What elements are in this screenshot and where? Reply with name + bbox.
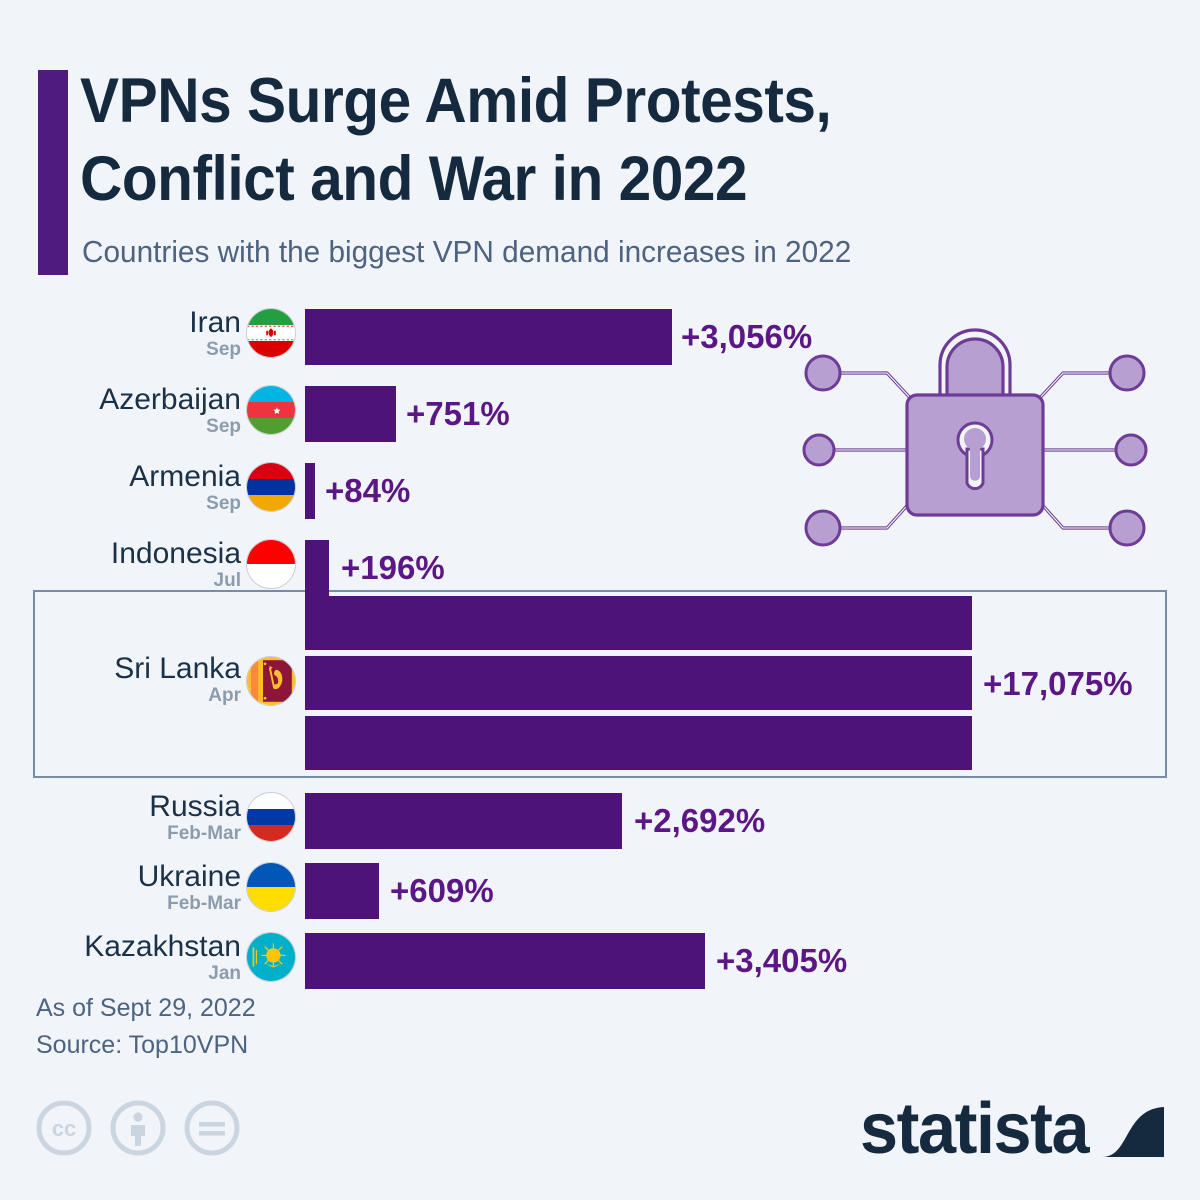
svg-text:cc: cc (52, 1116, 76, 1141)
table-row: Kazakhstan Jan (0, 928, 1200, 994)
row-label-kazakhstan: Kazakhstan Jan (0, 930, 241, 985)
table-row: Russia Feb-Mar +2,692% (0, 788, 1200, 854)
bar-value: +17,075% (983, 656, 1133, 712)
flag-ukraine-icon (246, 862, 296, 912)
flag-russia-icon (246, 792, 296, 842)
bar-value: +2,692% (634, 793, 765, 849)
bar-value: +751% (406, 386, 510, 442)
cc-icon[interactable]: cc (36, 1100, 92, 1156)
footnotes: As of Sept 29, 2022 Source: Top10VPN (36, 990, 256, 1064)
header: VPNs Surge Amid Protests, Conflict and W… (0, 0, 1200, 290)
row-label-ukraine: Ukraine Feb-Mar (0, 860, 241, 915)
cc-nd-equals-icon[interactable] (184, 1100, 240, 1156)
country-name: Russia (0, 790, 241, 823)
row-label-indonesia: Indonesia Jul (0, 537, 241, 592)
table-row: Azerbaijan Sep +751% (0, 381, 1200, 447)
bar-chart: Iran Sep (0, 296, 1200, 986)
country-month: Sep (0, 339, 241, 361)
flag-srilanka-icon (246, 656, 296, 706)
row-label-iran: Iran Sep (0, 306, 241, 361)
bar (305, 933, 705, 989)
bar-segment (305, 656, 972, 710)
country-name: Armenia (0, 460, 241, 493)
flag-armenia-icon (246, 462, 296, 512)
page-title: VPNs Surge Amid Protests, Conflict and W… (80, 62, 1084, 218)
bar-value: +3,405% (716, 933, 847, 989)
table-row: Armenia Sep +84% (0, 458, 1200, 524)
country-name: Indonesia (0, 537, 241, 570)
bar-segment (305, 596, 972, 650)
flag-iran-icon (246, 308, 296, 358)
flag-kazakhstan-icon (246, 932, 296, 982)
statista-wordmark: statista (860, 1098, 1088, 1160)
country-name: Iran (0, 306, 241, 339)
bar (305, 463, 315, 519)
cc-by-person-icon[interactable] (110, 1100, 166, 1156)
country-month: Jul (0, 570, 241, 592)
country-month: Jan (0, 963, 241, 985)
title-accent-bar (38, 70, 68, 275)
country-name: Azerbaijan (0, 383, 241, 416)
bar (305, 863, 379, 919)
bar (305, 793, 622, 849)
table-row: Iran Sep (0, 304, 1200, 370)
country-name: Kazakhstan (0, 930, 241, 963)
row-label-azerbaijan: Azerbaijan Sep (0, 383, 241, 438)
row-label-sri-lanka: Sri Lanka Apr (0, 652, 241, 707)
flag-indonesia-icon (246, 539, 296, 589)
bar-segment (305, 716, 972, 770)
bar-value: +3,056% (681, 309, 812, 365)
bar (305, 540, 329, 596)
country-name: Ukraine (0, 860, 241, 893)
bar (305, 309, 672, 365)
bar (305, 386, 396, 442)
statista-mark-icon (1102, 1101, 1164, 1157)
as-of-date: As of Sept 29, 2022 (36, 990, 256, 1027)
country-month: Apr (0, 685, 241, 707)
country-month: Sep (0, 416, 241, 438)
source-text: Source: Top10VPN (36, 1027, 256, 1064)
infographic-canvas: VPNs Surge Amid Protests, Conflict and W… (0, 0, 1200, 1200)
creative-commons-icons: cc (36, 1100, 240, 1156)
country-month: Feb-Mar (0, 893, 241, 915)
bar-value: +84% (325, 463, 410, 519)
page-subtitle: Countries with the biggest VPN demand in… (82, 232, 1128, 272)
table-row: Ukraine Feb-Mar +609% (0, 858, 1200, 924)
country-name: Sri Lanka (0, 652, 241, 685)
bar-value: +609% (390, 863, 494, 919)
statista-logo[interactable]: statista (848, 1098, 1164, 1160)
row-label-armenia: Armenia Sep (0, 460, 241, 515)
country-month: Sep (0, 493, 241, 515)
table-row: Sri Lanka Apr (0, 590, 1200, 778)
bar-value: +196% (341, 540, 445, 596)
row-label-russia: Russia Feb-Mar (0, 790, 241, 845)
flag-azerbaijan-icon (246, 385, 296, 435)
country-month: Feb-Mar (0, 823, 241, 845)
